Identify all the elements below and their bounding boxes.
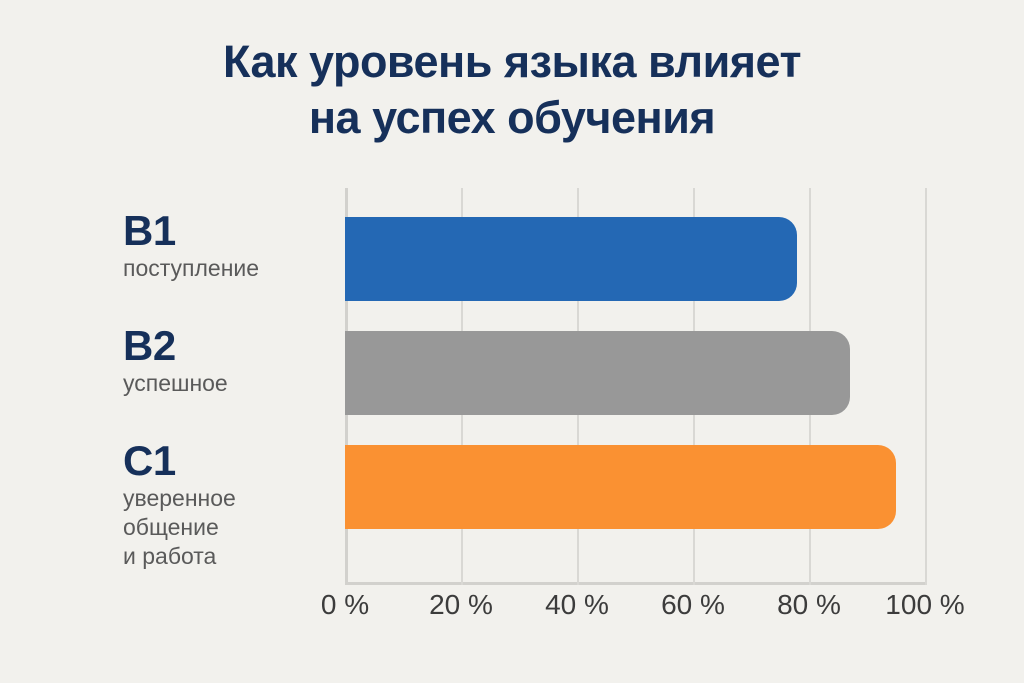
x-tick-60: 60 % [661,585,725,625]
category-label-inner: B2успешное [123,323,323,398]
category-description-line: уверенное [123,484,323,513]
bar-c1[interactable] [345,445,896,529]
x-tick-0: 0 % [321,585,369,625]
category-description-line: общение [123,513,323,542]
category-axis-labels: B1поступлениеB2успешноеC1уверенноеобщени… [0,160,345,683]
plot-area [345,188,925,585]
bar-b1[interactable] [345,217,797,301]
page-title-line-2: на успех обучения [0,90,1024,146]
category-description-b2: успешное [123,369,323,398]
bar-b2[interactable] [345,331,850,415]
category-code-c1: C1 [123,438,323,484]
x-tick-80: 80 % [777,585,841,625]
bar-chart: B1поступлениеB2успешноеC1уверенноеобщени… [0,160,1024,683]
bar-row-b2 [345,331,925,415]
category-description-b1: поступление [123,254,323,283]
x-axis-tick-labels: 0 %20 %40 %60 %80 %100 % [345,585,925,635]
category-label-c1: C1уверенноеобщениеи работа [23,438,323,571]
category-description-line: и работа [123,542,323,571]
page-title: Как уровень языка влияет на успех обучен… [0,34,1024,146]
category-label-b1: B1поступление [23,208,323,283]
x-tick-20: 20 % [429,585,493,625]
category-description-c1: уверенноеобщениеи работа [123,484,323,571]
category-label-inner: B1поступление [123,208,323,283]
category-description-line: поступление [123,254,323,283]
category-label-b2: B2успешное [23,323,323,398]
infographic-poster: Как уровень языка влияет на успех обучен… [0,0,1024,683]
x-tick-40: 40 % [545,585,609,625]
category-code-b1: B1 [123,208,323,254]
category-description-line: успешное [123,369,323,398]
bar-row-c1 [345,445,925,529]
gridline-100 [925,188,927,585]
category-label-inner: C1уверенноеобщениеи работа [123,438,323,571]
x-tick-100: 100 % [885,585,964,625]
category-code-b2: B2 [123,323,323,369]
bar-row-b1 [345,217,925,301]
page-title-line-1: Как уровень языка влияет [0,34,1024,90]
